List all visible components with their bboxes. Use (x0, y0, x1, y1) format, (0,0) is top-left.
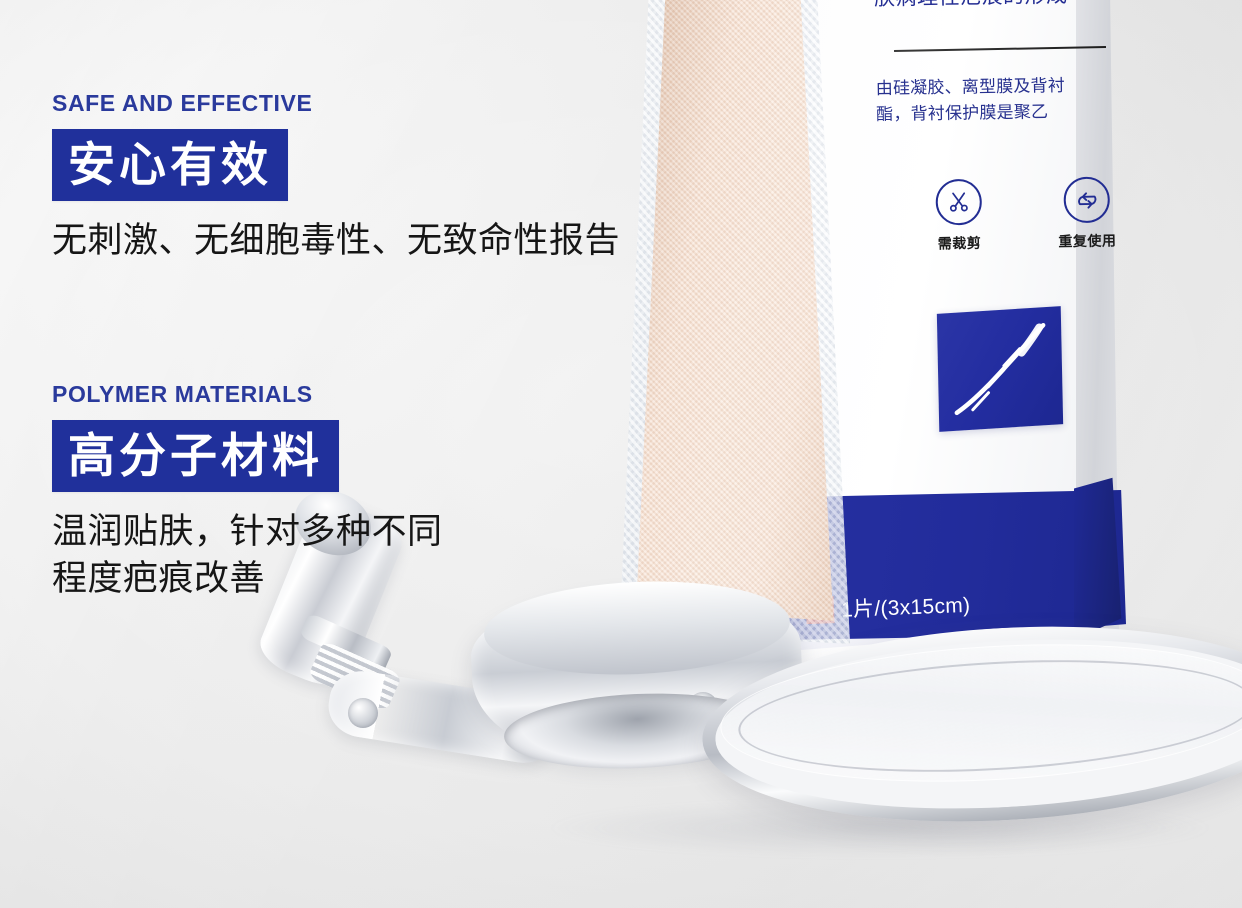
carton-spec-line: 外 1片/(3x15cm) (805, 589, 970, 625)
feature-badge: 高分子材料 (52, 420, 339, 492)
feature-reusable: 重复使用 (1049, 176, 1124, 251)
sheet-shading (612, 0, 984, 644)
sheet-liner-texture (612, 0, 984, 644)
instrument-ring-inner-edge (735, 648, 1242, 785)
product-banner: scars on the skin 肤病理性疤痕的形成 由硅凝胶、离型膜及背衬 … (0, 0, 1242, 908)
instrument-pivot-screw (688, 692, 718, 722)
instrument-pivot-screw (348, 698, 378, 728)
instrument-arm-ribs (308, 640, 403, 712)
instrument-arm-lower (324, 666, 561, 767)
feature-subcopy: 无刺激、无细胞毒性、无致命性报告 (52, 218, 620, 265)
reuse-loop-icon (1063, 176, 1110, 223)
carton-detail-text: 由硅凝胶、离型膜及背衬 酯，背衬保护膜是聚乙 (876, 72, 1127, 129)
instrument-ring-glass (717, 631, 1242, 795)
feature-needs-cutting: 需裁剪 (921, 178, 996, 253)
carton-blue-band-side (1074, 476, 1148, 654)
feature-label: 需裁剪 (922, 232, 996, 253)
silicone-scar-sheet (612, 0, 984, 644)
instrument-arm-collar (299, 612, 394, 673)
carton-divider-rule (894, 46, 1106, 52)
feature-block-polymer: POLYMER MATERIALS 高分子材料 温润贴肤，针对多种不同 程度疤痕… (52, 383, 443, 603)
product-carton: scars on the skin 肤病理性疤痕的形成 由硅凝胶、离型膜及背衬 … (636, 0, 1148, 690)
instrument-large-ring (697, 611, 1242, 837)
feature-block-safe: SAFE AND EFFECTIVE 安心有效 无刺激、无细胞毒性、无致命性报告 (52, 92, 620, 265)
scar-suture-line-icon (937, 306, 1063, 432)
feature-subcopy: 温润贴肤，针对多种不同 程度疤痕改善 (52, 509, 443, 603)
scissors-icon (935, 179, 982, 226)
sheet-gel-texture (612, 0, 984, 644)
sheet-gel-surface (612, 0, 984, 644)
carton-blue-band (638, 490, 1126, 662)
instrument-lens (503, 688, 774, 774)
instrument-hub-body (468, 583, 805, 765)
carton-headline: 肤病理性疤痕的形成 (874, 0, 1124, 12)
spec-quantity-size: 1片/(3x15cm) (840, 589, 970, 624)
instrument-hub-ring (482, 575, 792, 680)
carton-side-panel (1076, 0, 1146, 676)
sheet-release-liner (612, 0, 984, 644)
feature-badge: 安心有效 (52, 129, 288, 201)
carton-base-lip (640, 632, 1140, 676)
carton-feature-icons: 需裁剪 重复使用 (921, 176, 1124, 254)
spec-external-use-tag: 外 (806, 596, 835, 624)
feature-eyebrow: POLYMER MATERIALS (52, 383, 443, 406)
feature-label: 重复使用 (1050, 230, 1124, 251)
feature-eyebrow: SAFE AND EFFECTIVE (52, 92, 620, 115)
carton-front-face (636, 0, 1118, 680)
instrument-shadow (550, 800, 1210, 856)
